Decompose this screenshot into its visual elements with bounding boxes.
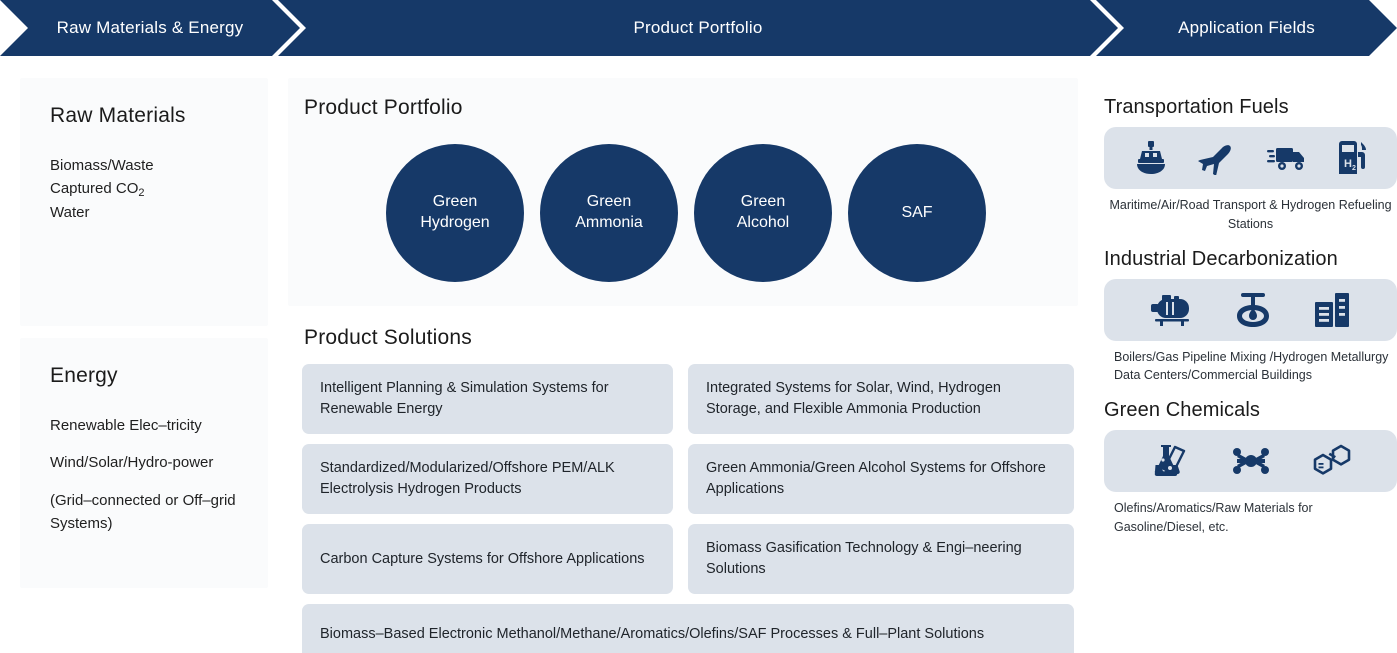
solution-card-integrated-systems[interactable]: Integrated Systems for Solar, Wind, Hydr… (688, 364, 1074, 434)
banner-segment-application-fields: Application Fields (1096, 0, 1397, 56)
banner-segment-product-portfolio: Product Portfolio (278, 0, 1118, 56)
energy-item-renewable-electricity: Renewable Elec–tricity (50, 414, 240, 437)
circle-line2-green-ammonia: Ammonia (575, 213, 643, 234)
solution-card-biomass-gasification[interactable]: Biomass Gasification Technology & Engi–n… (688, 524, 1074, 594)
left-column: Raw Materials Biomass/Waste Captured CO2… (20, 78, 268, 588)
ship-icon (1132, 140, 1170, 176)
co2-subscript: 2 (138, 187, 144, 199)
right-column: Transportation Fuels (1104, 96, 1397, 551)
banner-segment-raw-materials-energy: Raw Materials & Energy (0, 0, 300, 56)
energy-list: Renewable Elec–tricity Wind/Solar/Hydro-… (50, 414, 240, 536)
green-chemicals-title: Green Chemicals (1104, 399, 1397, 422)
center-column: Product Portfolio Green Hydrogen Green A… (288, 78, 1078, 653)
product-circles: Green Hydrogen Green Ammonia Green Alcoh… (288, 138, 1078, 288)
industrial-decarbonization-title: Industrial Decarbonization (1104, 248, 1397, 271)
raw-materials-list: Biomass/Waste Captured CO2 Water (50, 154, 240, 224)
energy-item-wind-solar-hydropower: Wind/Solar/Hydro-power (50, 451, 240, 474)
product-portfolio-panel: Product Portfolio Green Hydrogen Green A… (288, 78, 1078, 306)
solution-card-ammonia-alcohol-offshore[interactable]: Green Ammonia/Green Alcohol Systems for … (688, 444, 1074, 514)
svg-text:H: H (1344, 158, 1352, 170)
product-circle-green-alcohol[interactable]: Green Alcohol (694, 144, 832, 282)
benzene-rings-icon (1312, 443, 1352, 479)
truck-icon (1266, 142, 1308, 174)
process-flow-banner: Raw Materials & Energy Product Portfolio… (0, 0, 1397, 56)
energy-item-grid-connected: (Grid–connected or Off–grid Systems) (50, 489, 240, 536)
green-chemicals-icon-strip (1104, 430, 1397, 492)
raw-materials-item-biomass: Biomass/Waste (50, 154, 240, 177)
buildings-icon (1312, 292, 1352, 328)
product-solutions-grid: Intelligent Planning & Simulation System… (288, 364, 1078, 653)
solution-card-biomass-based-electronic[interactable]: Biomass–Based Electronic Methanol/Methan… (302, 604, 1074, 653)
circle-line1-saf: SAF (901, 203, 932, 224)
svg-text:2: 2 (1352, 165, 1356, 172)
product-circle-green-hydrogen[interactable]: Green Hydrogen (386, 144, 524, 282)
circle-line2-green-alcohol: Alcohol (737, 213, 789, 234)
captured-co2-text: Captured CO (50, 180, 138, 197)
product-circle-saf[interactable]: SAF (848, 144, 986, 282)
gas-pipeline-valve-icon (1233, 292, 1273, 328)
industrial-decarbonization-caption: Boilers/Gas Pipeline Mixing /Hydrogen Me… (1104, 348, 1397, 386)
transportation-fuels-icon-strip: H 2 (1104, 127, 1397, 189)
banner-label-product-portfolio: Product Portfolio (633, 18, 762, 38)
flask-test-tube-icon (1149, 443, 1191, 479)
solution-card-intelligent-planning[interactable]: Intelligent Planning & Simulation System… (302, 364, 673, 434)
industrial-decarbonization-icon-strip (1104, 279, 1397, 341)
product-solutions-title: Product Solutions (304, 326, 1078, 350)
transportation-fuels-caption: Maritime/Air/Road Transport & Hydrogen R… (1104, 196, 1397, 234)
raw-materials-title: Raw Materials (50, 104, 240, 128)
solution-card-carbon-capture[interactable]: Carbon Capture Systems for Offshore Appl… (302, 524, 673, 594)
product-circle-green-ammonia[interactable]: Green Ammonia (540, 144, 678, 282)
circle-line1-green-ammonia: Green (575, 192, 643, 213)
application-group-transportation-fuels: Transportation Fuels (1104, 96, 1397, 234)
green-chemicals-caption: Olefins/Aromatics/Raw Materials for Gaso… (1104, 499, 1397, 537)
application-group-green-chemicals: Green Chemicals (1104, 399, 1397, 537)
molecule-icon (1229, 445, 1273, 477)
solution-card-electrolysis-products[interactable]: Standardized/Modularized/Offshore PEM/AL… (302, 444, 673, 514)
raw-materials-card: Raw Materials Biomass/Waste Captured CO2… (20, 78, 268, 326)
airplane-icon (1197, 141, 1239, 175)
infographic-page: Raw Materials & Energy Product Portfolio… (0, 0, 1397, 653)
circle-line1-green-alcohol: Green (737, 192, 789, 213)
boiler-icon (1149, 293, 1195, 327)
application-group-industrial-decarbonization: Industrial Decarbonization (1104, 248, 1397, 386)
transportation-fuels-title: Transportation Fuels (1104, 96, 1397, 119)
circle-line2-green-hydrogen: Hydrogen (420, 213, 489, 234)
product-portfolio-title: Product Portfolio (288, 96, 1078, 120)
hydrogen-fuel-pump-icon: H 2 (1335, 140, 1369, 176)
raw-materials-item-captured-co2: Captured CO2 (50, 177, 240, 200)
circle-line1-green-hydrogen: Green (420, 192, 489, 213)
raw-materials-item-water: Water (50, 201, 240, 224)
banner-label-application-fields: Application Fields (1178, 18, 1315, 38)
banner-label-raw-materials-energy: Raw Materials & Energy (57, 18, 244, 38)
energy-card: Energy Renewable Elec–tricity Wind/Solar… (20, 338, 268, 588)
energy-title: Energy (50, 364, 240, 388)
